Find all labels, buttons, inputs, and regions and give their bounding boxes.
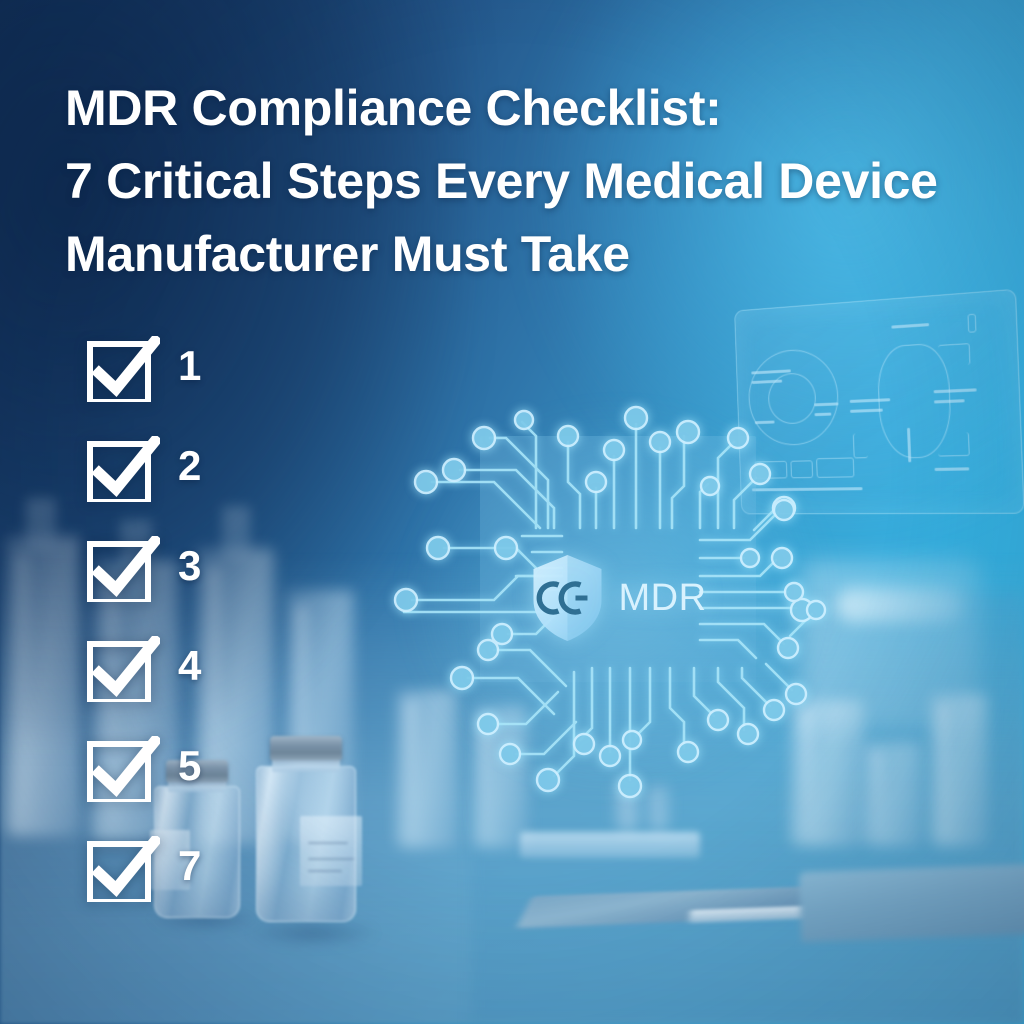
checklist-item[interactable]: 7 [86, 836, 201, 936]
checklist-item-number: 4 [178, 636, 201, 696]
checkbox-checked-icon[interactable] [86, 636, 160, 702]
checkbox-checked-icon[interactable] [86, 536, 160, 602]
title-line-3: Manufacturer Must Take [65, 218, 1024, 291]
checklist-item[interactable]: 4 [86, 636, 201, 736]
checklist-item[interactable]: 3 [86, 536, 201, 636]
checklist-item[interactable]: 1 [86, 336, 201, 436]
page-title: MDR Compliance Checklist: 7 Critical Ste… [65, 72, 1024, 291]
checklist-item[interactable]: 2 [86, 436, 201, 536]
checklist-item-number: 3 [178, 536, 201, 596]
checkbox-checked-icon[interactable] [86, 436, 160, 502]
infographic-canvas: MDR MDR Compliance Checklist: 7 Critical… [0, 0, 1024, 1024]
checklist-item-number: 5 [178, 736, 201, 796]
checkbox-checked-icon[interactable] [86, 836, 160, 902]
checklist-item-number: 1 [178, 336, 201, 396]
checkbox-checked-icon[interactable] [86, 736, 160, 802]
checklist-item-number: 2 [178, 436, 201, 496]
checkbox-checked-icon[interactable] [86, 336, 160, 402]
checklist-item-number: 7 [178, 836, 201, 896]
title-line-2: 7 Critical Steps Every Medical Device [65, 145, 1024, 218]
checklist: 1 2 3 [86, 336, 201, 936]
checklist-item[interactable]: 5 [86, 736, 201, 836]
title-line-1: MDR Compliance Checklist: [65, 72, 1024, 145]
